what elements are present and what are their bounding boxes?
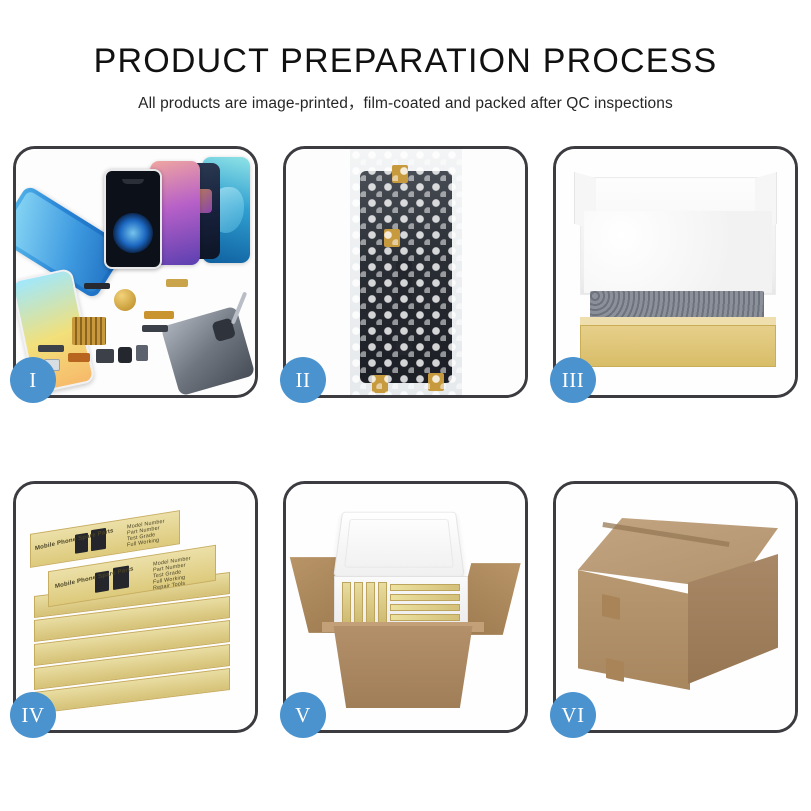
gold-flex-strip-icon (144, 311, 174, 319)
bubble-wrap-sheet-icon (350, 149, 462, 395)
step-panel-3[interactable]: III (553, 146, 798, 398)
gold-box-icon (366, 582, 375, 626)
step-6-image (556, 484, 795, 730)
step-panel-5[interactable]: V (283, 481, 528, 733)
gold-box-icon (390, 614, 460, 621)
carton-tab-icon (606, 658, 624, 682)
speaker-mesh-icon (84, 283, 110, 289)
gold-box-icon (390, 594, 460, 601)
flex-cable-icon (142, 325, 168, 332)
page-title: PRODUCT PREPARATION PROCESS (0, 44, 811, 80)
step-badge-4: IV (10, 692, 56, 738)
gold-coin-part-icon (114, 289, 136, 311)
gold-connector-icon (68, 353, 90, 362)
flex-cable-icon (38, 345, 64, 352)
page-subtitle: All products are image-printed，film-coat… (0, 91, 811, 113)
product-preparation-infographic: PRODUCT PREPARATION PROCESS All products… (0, 0, 811, 811)
step-1-image (16, 149, 255, 395)
step-panel-6[interactable]: VI (553, 481, 798, 733)
step-5-image (286, 484, 525, 730)
gold-box-base-icon (580, 325, 776, 367)
gold-box-icon (390, 584, 460, 591)
gold-box-icon (390, 604, 460, 611)
gold-box-icon (378, 582, 387, 626)
step-panel-1[interactable]: I (13, 146, 258, 398)
step-badge-5: V (280, 692, 326, 738)
step-3-image (556, 149, 795, 395)
gold-box-icon (342, 582, 351, 626)
step-panel-4[interactable]: Mobile Phone Spare Parts Model Number Pa… (13, 481, 258, 733)
camera-module-icon (118, 347, 132, 363)
steps-grid: I II (0, 146, 811, 733)
gold-box-icon (354, 582, 363, 626)
kraft-carton-icon (324, 626, 482, 708)
bubble-texture-overlay (350, 149, 462, 395)
gold-chip-grid-icon (72, 317, 106, 345)
battery-connector-icon (136, 345, 148, 361)
step-panel-2[interactable]: II (283, 146, 528, 398)
carton-front-icon (578, 570, 690, 690)
step-badge-3: III (550, 357, 596, 403)
gold-flex-strip-icon (166, 279, 188, 287)
header: PRODUCT PREPARATION PROCESS All products… (0, 0, 811, 113)
foam-liner-icon (584, 211, 772, 293)
step-badge-2: II (280, 357, 326, 403)
flex-cable-icon (96, 349, 114, 363)
white-foam-lid-icon (333, 512, 464, 577)
step-badge-6: VI (550, 692, 596, 738)
carton-tab-icon (602, 594, 620, 620)
step-4-image: Mobile Phone Spare Parts Model Number Pa… (16, 484, 255, 730)
step-badge-1: I (10, 357, 56, 403)
step-2-image (286, 149, 525, 395)
phone-backplate-icon (161, 306, 255, 395)
black-display-icon (104, 169, 162, 269)
